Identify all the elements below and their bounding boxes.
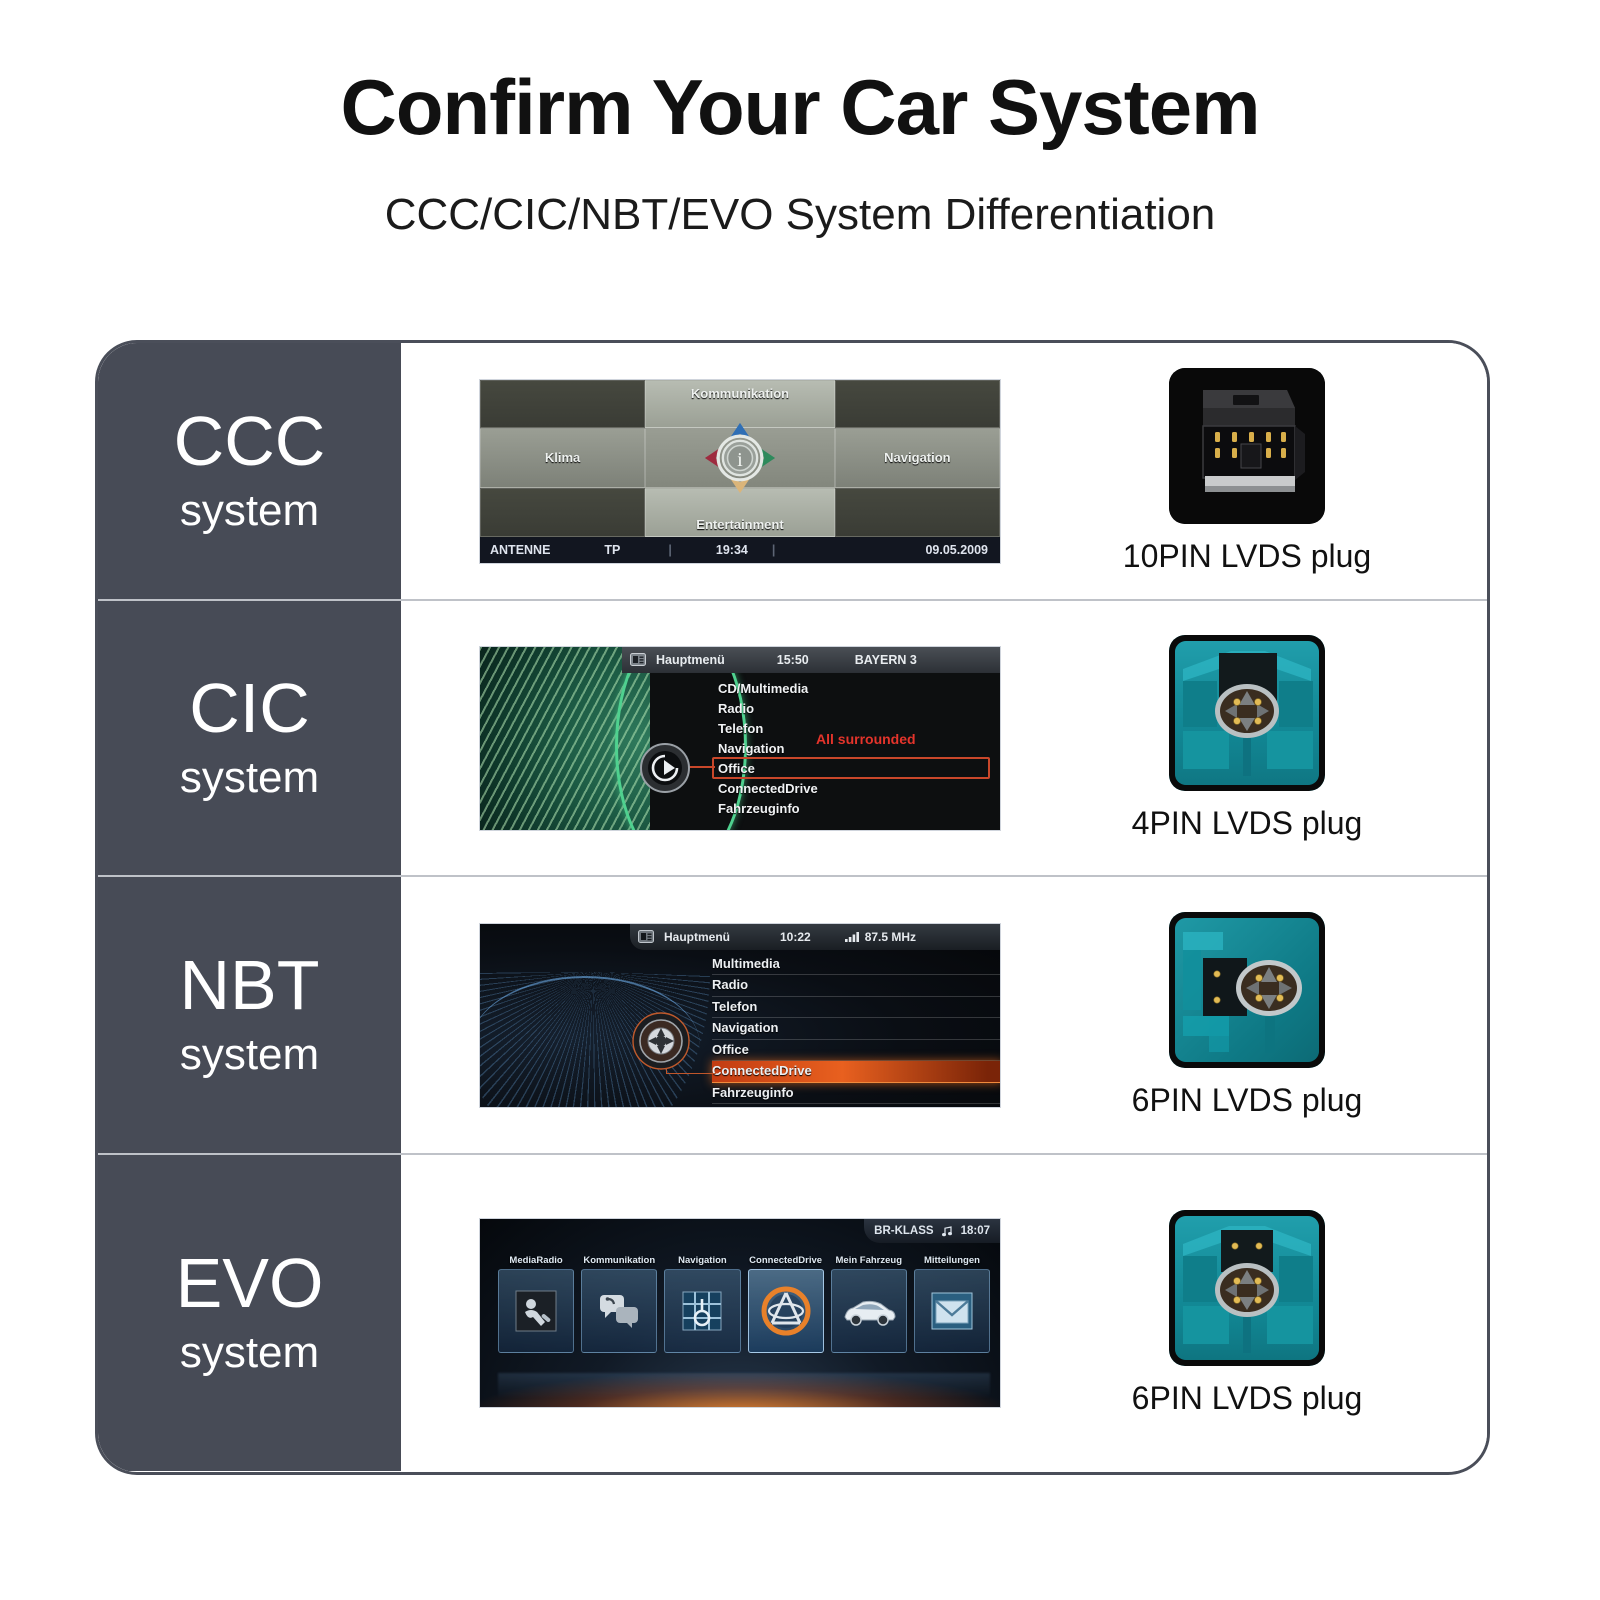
globe-icon	[760, 1285, 812, 1337]
evo-tile-box[interactable]	[914, 1269, 990, 1353]
system-name-nbt: NBT	[180, 950, 320, 1021]
radio-icon	[630, 653, 646, 666]
system-name-evo: EVO	[176, 1248, 324, 1319]
cic-topbar-title: Hauptmenü	[656, 653, 725, 667]
cic-menu-item-selected[interactable]: Navigation	[718, 739, 818, 759]
evo-tile-box[interactable]	[664, 1269, 740, 1353]
signal-bars-icon	[845, 931, 860, 942]
ccc-status-bar: ANTENNE TP | 19:34 | 09.05.2009	[480, 537, 1000, 563]
radio-icon	[638, 930, 654, 943]
cic-topbar-station: BAYERN 3	[855, 653, 917, 667]
table-row-evo: EVO system BR-KLASS 18:07	[98, 1153, 1487, 1471]
sidebar-item-nbt[interactable]: NBT system	[98, 877, 401, 1153]
nbt-topbar-frequency: 87.5 MHz	[865, 930, 916, 944]
ccc-status-traffic: TP	[604, 543, 620, 557]
system-sub-ccc: system	[180, 486, 319, 536]
screen-preview-nbt: Hauptmenü 10:22 87.5 MHz Multimedia Radi…	[479, 923, 1001, 1108]
cic-menu-item[interactable]: Telefon	[718, 719, 818, 739]
nbt-menu-item[interactable]: Office	[712, 1040, 1001, 1062]
evo-top-bar: BR-KLASS 18:07	[864, 1219, 1000, 1243]
cic-top-bar: Hauptmenü 15:50 BAYERN 3	[622, 647, 1000, 673]
cic-menu-item[interactable]: CD/Multimedia	[718, 679, 818, 699]
system-name-ccc: CCC	[174, 406, 326, 477]
ccc-cell-empty-tr	[835, 380, 1000, 428]
cic-selection-highlight	[712, 757, 990, 779]
row-content-evo: BR-KLASS 18:07 MediaRadio	[401, 1155, 1487, 1471]
map-icon	[679, 1288, 725, 1334]
screen-preview-evo: BR-KLASS 18:07 MediaRadio	[479, 1218, 1001, 1408]
row-content-cic: Hauptmenü 15:50 BAYERN 3 CD/Multimedia R…	[401, 601, 1487, 875]
evo-tile-label: ConnectedDrive	[749, 1255, 822, 1266]
system-comparison-table: CCC system Kommunikation Klima	[95, 340, 1490, 1475]
evo-tile-label: Mein Fahrzeug	[836, 1255, 903, 1266]
row-content-nbt: Hauptmenü 10:22 87.5 MHz Multimedia Radi…	[401, 877, 1487, 1153]
system-sub-nbt: system	[180, 1030, 319, 1080]
evo-tile-mitteilungen[interactable]: Mitteilungen	[914, 1255, 990, 1353]
plug-column-evo: 6PIN LVDS plug	[1007, 1155, 1487, 1471]
nbt-menu-item[interactable]: Einstellungen	[712, 1104, 1001, 1108]
lvds-connector-4pin	[1169, 635, 1325, 791]
lvds-connector-10pin	[1169, 368, 1325, 524]
evo-tile-label: Mitteilungen	[924, 1255, 980, 1266]
ccc-tile-right-label: Navigation	[884, 450, 950, 465]
evo-tile-row: MediaRadio Kommunik	[498, 1255, 990, 1353]
ccc-cell-empty-br	[835, 488, 1000, 536]
ccc-status-time: 19:34	[716, 543, 748, 557]
screen-preview-cic: Hauptmenü 15:50 BAYERN 3 CD/Multimedia R…	[479, 646, 1001, 831]
lvds-connector-6pin-nbt	[1169, 912, 1325, 1068]
info-icon: i	[701, 419, 779, 497]
nbt-menu-item[interactable]: Multimedia	[712, 954, 1001, 976]
nbt-menu-item[interactable]: Telefon	[712, 997, 1001, 1019]
evo-tile-box[interactable]	[581, 1269, 657, 1353]
plug-label-evo: 6PIN LVDS plug	[1132, 1380, 1363, 1417]
evo-tile-label: MediaRadio	[509, 1255, 562, 1266]
plug-column-nbt: 6PIN LVDS plug	[1007, 877, 1487, 1153]
evo-tile-mediaradio[interactable]: MediaRadio	[498, 1255, 574, 1353]
note-icon	[942, 1226, 953, 1237]
page-subtitle: CCC/CIC/NBT/EVO System Differentiation	[0, 190, 1600, 240]
evo-reflection	[498, 1373, 990, 1399]
evo-topbar-station: BR-KLASS	[874, 1225, 933, 1237]
row-content-ccc: Kommunikation Klima Navigation Entertai	[401, 343, 1487, 599]
ccc-tile-bottom-label: Entertainment	[696, 517, 783, 532]
ccc-tile-left-label: Klima	[545, 450, 580, 465]
plug-column-cic: 4PIN LVDS plug	[1007, 601, 1487, 875]
ccc-tile-right[interactable]: Navigation	[835, 428, 1000, 488]
evo-tile-label: Kommunikation	[583, 1255, 655, 1266]
sidebar-item-ccc[interactable]: CCC system	[98, 343, 401, 599]
speech-bubbles-icon	[596, 1291, 642, 1331]
plug-label-nbt: 6PIN LVDS plug	[1132, 1082, 1363, 1119]
page-title: Confirm Your Car System	[0, 62, 1600, 153]
ccc-cell-empty-bl	[480, 488, 645, 536]
cic-menu-item[interactable]: Radio	[718, 699, 818, 719]
plug-column-ccc: 10PIN LVDS plug	[1007, 343, 1487, 599]
system-sub-cic: system	[180, 753, 319, 803]
evo-tile-kommunikation[interactable]: Kommunikation	[581, 1255, 657, 1353]
ccc-status-date: 09.05.2009	[925, 543, 988, 557]
table-row-nbt: NBT system	[98, 875, 1487, 1153]
cic-menu-list: CD/Multimedia Radio Telefon Navigation O…	[718, 679, 818, 819]
cic-menu-item[interactable]: ConnectedDrive	[718, 779, 818, 799]
nbt-menu-item[interactable]: Fahrzeuginfo	[712, 1083, 1001, 1105]
cic-topbar-time: 15:50	[777, 653, 809, 667]
nbt-top-bar: Hauptmenü 10:22 87.5 MHz	[630, 924, 1000, 950]
envelope-icon	[928, 1289, 976, 1333]
nbt-topbar-time: 10:22	[780, 930, 811, 944]
nbt-topbar-title: Hauptmenü	[664, 930, 730, 944]
evo-tile-label: Navigation	[678, 1255, 727, 1266]
evo-tile-box-active[interactable]	[748, 1269, 824, 1353]
evo-topbar-time: 18:07	[961, 1225, 990, 1237]
car-icon	[841, 1295, 897, 1327]
nbt-menu-item[interactable]: Navigation	[712, 1018, 1001, 1040]
system-sub-evo: system	[180, 1328, 319, 1378]
page-root: Confirm Your Car System CCC/CIC/NBT/EVO …	[0, 0, 1600, 1600]
evo-tile-connecteddrive[interactable]: ConnectedDrive	[748, 1255, 824, 1353]
idrive-knob-icon	[632, 1012, 690, 1070]
ccc-status-source: ANTENNE	[490, 543, 550, 557]
ccc-tile-top-label: Kommunikation	[691, 386, 789, 401]
idrive-knob-icon	[640, 743, 690, 793]
screen-preview-ccc: Kommunikation Klima Navigation Entertai	[479, 379, 1001, 564]
evo-tile-navigation[interactable]: Navigation	[664, 1255, 740, 1353]
system-name-cic: CIC	[189, 673, 310, 744]
evo-tile-box[interactable]	[498, 1269, 574, 1353]
table-row-cic: CIC system	[98, 599, 1487, 875]
cic-menu-item[interactable]: Fahrzeuginfo	[718, 799, 818, 819]
nbt-menu-item[interactable]: Radio	[712, 975, 1001, 997]
microphone-icon	[513, 1288, 559, 1334]
table-row-ccc: CCC system Kommunikation Klima	[98, 343, 1487, 599]
plug-label-cic: 4PIN LVDS plug	[1132, 805, 1363, 842]
evo-tile-box[interactable]	[831, 1269, 907, 1353]
cic-annotation: All surrounded	[816, 731, 916, 747]
ccc-status-sep2: |	[772, 543, 776, 557]
sidebar-item-cic[interactable]: CIC system	[98, 601, 401, 875]
nbt-menu-list: Multimedia Radio Telefon Navigation Offi…	[712, 954, 1001, 1108]
nbt-menu-item-selected[interactable]: ConnectedDrive	[712, 1061, 1001, 1083]
ccc-tile-left[interactable]: Klima	[480, 428, 645, 488]
sidebar-item-evo[interactable]: EVO system	[98, 1155, 401, 1471]
plug-label-ccc: 10PIN LVDS plug	[1123, 538, 1371, 575]
ccc-status-sep1: |	[668, 543, 672, 557]
svg-text:i: i	[737, 449, 743, 471]
lvds-connector-6pin-evo	[1169, 1210, 1325, 1366]
evo-tile-meinfahrzeug[interactable]: Mein Fahrzeug	[831, 1255, 907, 1353]
ccc-cell-empty-tl	[480, 380, 645, 428]
